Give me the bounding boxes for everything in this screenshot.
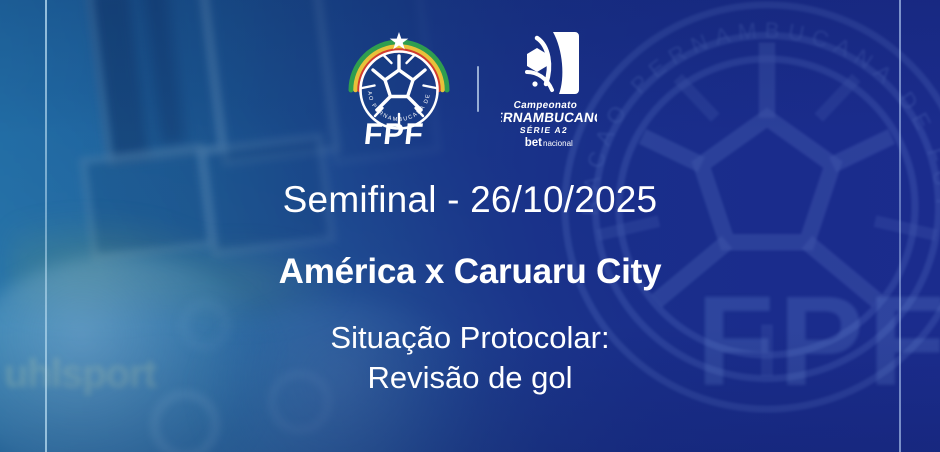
sponsor-nacional: nacional: [543, 139, 573, 148]
campeonato-line2: PERNAMBUCANO: [501, 110, 597, 125]
status-block: Situação Protocolar: Revisão de gol: [0, 318, 940, 397]
status-label: Situação Protocolar:: [330, 320, 609, 355]
logo-row: FEDERACAO PERNAMBUCANA DE FUTEBOL FPF Ca…: [0, 30, 940, 148]
campeonato-line3: SÉRIE A2: [519, 125, 568, 135]
logo-divider: [477, 66, 479, 112]
sponsor-bet: bet: [525, 137, 542, 148]
headline-block: Semifinal - 26/10/2025 América x Caruaru…: [0, 178, 940, 397]
svg-text:FPF: FPF: [362, 118, 425, 148]
campeonato-pernambucano-shield-icon[interactable]: Campeonato PERNAMBUCANO SÉRIE A2 bet nac…: [501, 30, 597, 148]
match-title-text: América x Caruaru City: [0, 252, 940, 292]
stage-date-text: Semifinal - 26/10/2025: [0, 178, 940, 222]
announcement-card: uhlsport FEDERACAO PERNAMBUCANA DE FUTEB…: [0, 0, 940, 452]
fpf-crest-icon[interactable]: FEDERACAO PERNAMBUCANA DE FUTEBOL FPF: [343, 30, 455, 148]
card-content: FEDERACAO PERNAMBUCANA DE FUTEBOL FPF Ca…: [0, 0, 940, 452]
status-value: Revisão de gol: [0, 358, 940, 398]
